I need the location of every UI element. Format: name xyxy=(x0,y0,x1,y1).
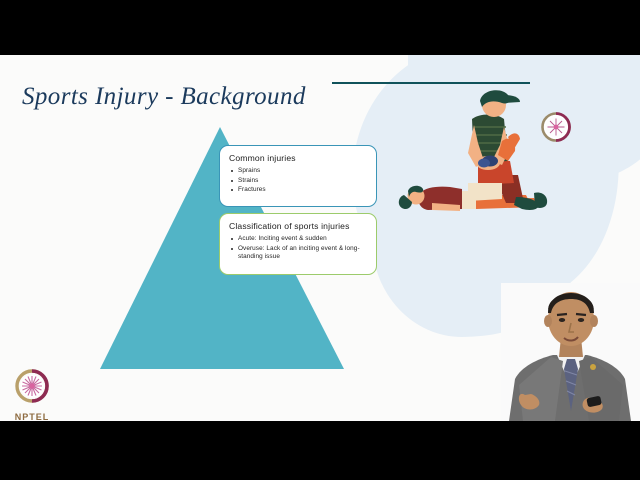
callout-list: Acute: Inciting event & sudden Overuse: … xyxy=(229,235,367,261)
presenter-video[interactable] xyxy=(501,283,640,421)
list-item: Fractures xyxy=(229,186,367,194)
video-player[interactable]: Sports Injury - Background xyxy=(0,0,640,480)
list-item-text: Fractures xyxy=(238,186,266,193)
nptel-wordmark: NPTEL xyxy=(8,412,56,421)
bullet-icon xyxy=(231,238,233,240)
list-item: Acute: Inciting event & sudden xyxy=(229,235,367,243)
callout-heading: Classification of sports injuries xyxy=(229,221,367,231)
bullet-icon xyxy=(231,189,233,191)
nptel-logo: NPTEL xyxy=(8,368,56,418)
list-item: Sprains xyxy=(229,167,367,175)
list-item-text: Acute: Inciting event & sudden xyxy=(238,235,327,242)
bullet-icon xyxy=(231,248,233,250)
letterbox-top xyxy=(0,0,640,55)
callout-list: Sprains Strains Fractures xyxy=(229,167,367,195)
callout-classification: Classification of sports injuries Acute:… xyxy=(219,213,377,275)
nptel-emblem-icon xyxy=(11,368,53,406)
callout-heading: Common injuries xyxy=(229,153,367,163)
list-item-text: Strains xyxy=(238,177,258,184)
slide-title: Sports Injury - Background xyxy=(22,83,306,111)
kneeling-trainer xyxy=(468,90,538,210)
bullet-icon xyxy=(231,170,233,172)
list-item: Overuse: Lack of an inciting event & lon… xyxy=(229,245,367,262)
first-aid-illustration xyxy=(398,83,564,229)
slide-canvas: Sports Injury - Background xyxy=(0,55,640,421)
list-item-text: Overuse: Lack of an inciting event & lon… xyxy=(238,245,360,260)
bullet-icon xyxy=(231,180,233,182)
letterbox-bottom xyxy=(0,421,640,480)
list-item: Strains xyxy=(229,177,367,185)
callout-common-injuries: Common injuries Sprains Strains Fracture… xyxy=(219,145,377,207)
list-item-text: Sprains xyxy=(238,167,260,174)
